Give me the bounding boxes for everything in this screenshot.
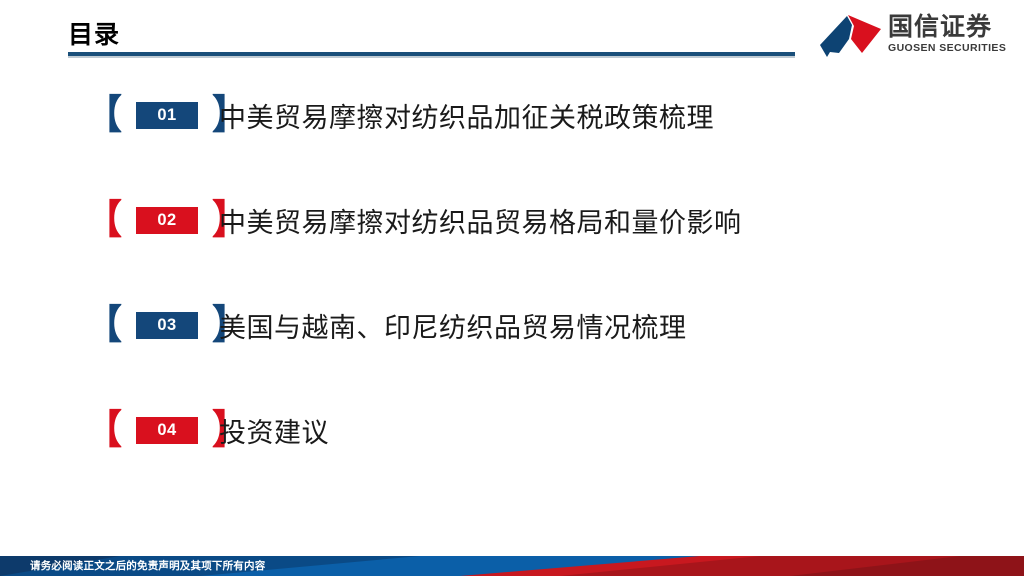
- toc-item-02[interactable]: 【 02 】 中美贸易摩擦对纺织品贸易格局和量价影响: [0, 193, 1024, 247]
- table-of-contents: 【 01 】 中美贸易摩擦对纺织品加征关税政策梳理 【 02 】 中美贸易摩擦对…: [0, 88, 1024, 508]
- toc-item-01[interactable]: 【 01 】 中美贸易摩擦对纺织品加征关税政策梳理: [0, 88, 1024, 142]
- toc-number-badge: 01: [136, 102, 198, 129]
- toc-item-label: 中美贸易摩擦对纺织品贸易格局和量价影响: [219, 193, 742, 247]
- toc-item-label: 美国与越南、印尼纺织品贸易情况梳理: [219, 298, 687, 352]
- footer-disclaimer: 请务必阅读正文之后的免责声明及其项下所有内容: [30, 556, 265, 576]
- bracket-left-icon: 【: [86, 95, 122, 135]
- slide-header: 目录 国信证券 GUOSEN SECURITIES: [0, 0, 1024, 80]
- toc-number-badge: 04: [136, 417, 198, 444]
- toc-number-badge: 02: [136, 207, 198, 234]
- logo-wordmark: 国信证券 GUOSEN SECURITIES: [888, 12, 1000, 62]
- slide-footer: 请务必阅读正文之后的免责声明及其项下所有内容: [0, 556, 1024, 576]
- guosen-logo-mark-icon: [818, 12, 884, 62]
- bracket-left-icon: 【: [86, 200, 122, 240]
- toc-item-04[interactable]: 【 04 】 投资建议: [0, 403, 1024, 457]
- logo-name-cn: 国信证券: [888, 12, 1000, 42]
- toc-number-badge: 03: [136, 312, 198, 339]
- company-logo: 国信证券 GUOSEN SECURITIES: [818, 10, 1000, 66]
- logo-name-en: GUOSEN SECURITIES: [888, 42, 1000, 55]
- toc-item-label: 中美贸易摩擦对纺织品加征关税政策梳理: [219, 88, 714, 142]
- toc-item-03[interactable]: 【 03 】 美国与越南、印尼纺织品贸易情况梳理: [0, 298, 1024, 352]
- bracket-left-icon: 【: [86, 410, 122, 450]
- page-title: 目录: [68, 20, 120, 50]
- toc-item-label: 投资建议: [219, 403, 329, 457]
- bracket-left-icon: 【: [86, 305, 122, 345]
- presentation-slide: 目录 国信证券 GUOSEN SECURITIES 【 01 】: [0, 0, 1024, 576]
- title-underline-rule: [68, 52, 795, 56]
